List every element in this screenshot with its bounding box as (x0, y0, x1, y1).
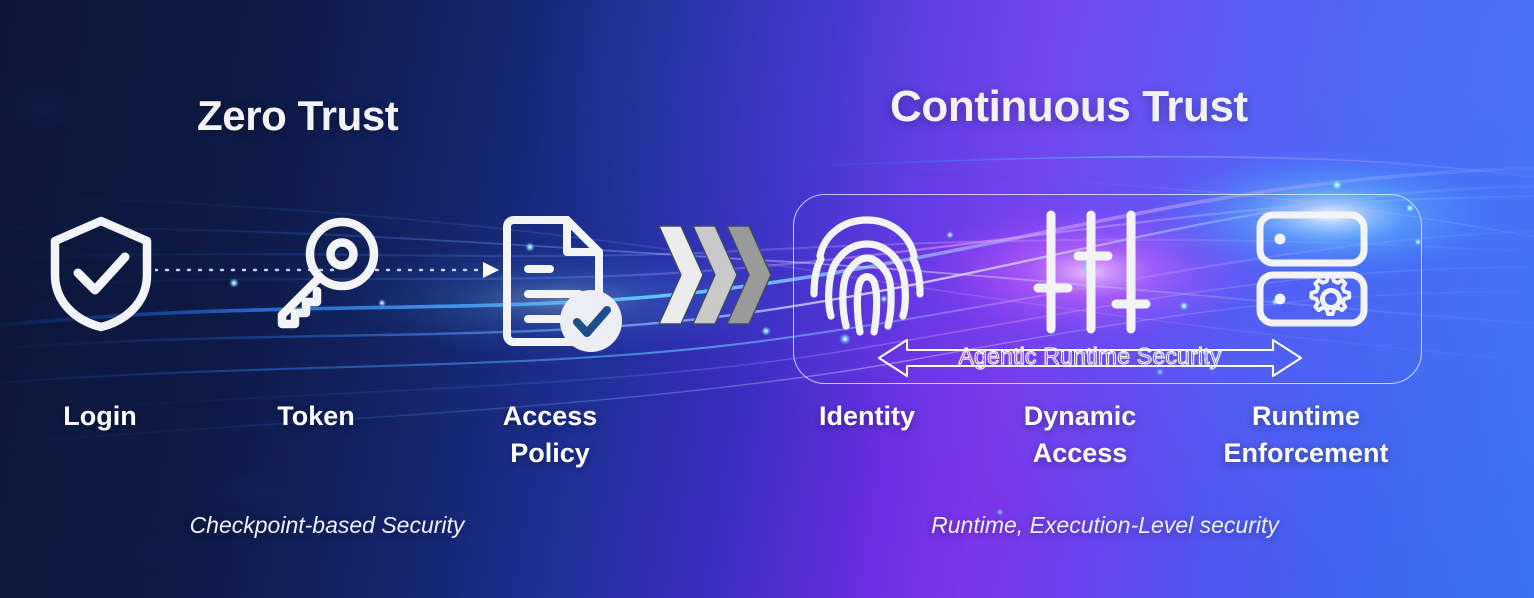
sliders-icon (1036, 208, 1146, 336)
diagram-canvas: Zero Trust Continuous Trust (0, 0, 1534, 598)
caption-checkpoint-based-security: Checkpoint-based Security (0, 512, 654, 539)
zero-trust-heading: Zero Trust (197, 92, 398, 140)
continuous-trust-heading: Continuous Trust (890, 82, 1248, 132)
node-label-identity: Identity (787, 398, 947, 435)
node-label-token: Token (236, 398, 396, 435)
node-label-access-policy: Access Policy (470, 398, 630, 472)
key-icon (268, 212, 384, 328)
agentic-runtime-security-label: Agentic Runtime Security (845, 343, 1335, 370)
document-check-icon (495, 213, 631, 355)
node-label-runtime-enforcement: Runtime Enforcement (1186, 398, 1426, 472)
node-label-dynamic-access: Dynamic Access (1000, 398, 1160, 472)
connector-token-to-access-policy (365, 250, 510, 290)
caption-runtime-execution-level-security: Runtime, Execution-Level security (760, 512, 1450, 539)
triple-chevron-right-icon (655, 220, 775, 330)
shield-check-icon (45, 215, 157, 333)
node-label-login: Login (20, 398, 180, 435)
fingerprint-icon (808, 210, 926, 338)
server-gear-icon (1255, 210, 1369, 328)
